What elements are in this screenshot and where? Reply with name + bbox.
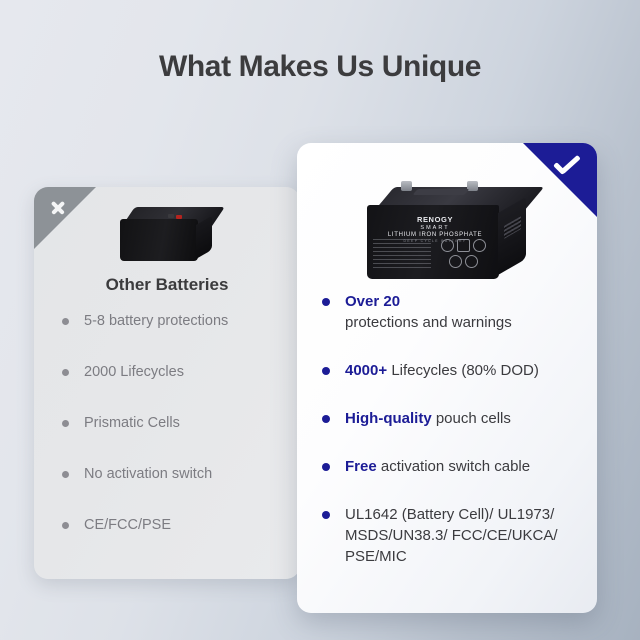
list-item-highlight: Over 20: [345, 293, 400, 310]
cert-icon: [457, 239, 470, 252]
list-item: 2000 Lifecycles: [60, 363, 286, 382]
bullet-icon: [322, 463, 330, 471]
cert-icon: [441, 239, 454, 252]
list-item: 4000+ Lifecycles (80% DOD): [319, 360, 581, 381]
list-item-text: No activation switch: [84, 466, 212, 482]
other-batteries-card: Other Batteries 5-8 battery protections …: [34, 187, 300, 579]
list-item: Free activation switch cable: [319, 456, 581, 477]
list-item-text: protections and warnings: [345, 314, 512, 331]
cert-icon: [473, 239, 486, 252]
other-batteries-title: Other Batteries: [34, 275, 300, 295]
other-batteries-list: 5-8 battery protections 2000 Lifecycles …: [60, 312, 286, 567]
list-item-text: UL1642 (Battery Cell)/ UL1973/ MSDS/UN38…: [345, 506, 558, 565]
bullet-icon: [62, 471, 69, 478]
bullet-icon: [322, 415, 330, 423]
list-item-text: CE/FCC/PSE: [84, 517, 171, 533]
battery-spec-block: [373, 239, 431, 271]
bullet-icon: [322, 298, 330, 306]
battery-smart-text: SMART: [377, 225, 493, 231]
cert-icon: [449, 255, 462, 268]
list-item: No activation switch: [60, 465, 286, 484]
list-item: Prismatic Cells: [60, 414, 286, 433]
bullet-icon: [62, 420, 69, 427]
renogy-feature-list: Over 20 protections and warnings 4000+ L…: [319, 291, 581, 594]
list-item-text: Lifecycles (80% DOD): [391, 362, 539, 379]
page-title: What Makes Us Unique: [0, 50, 640, 84]
list-item: UL1642 (Battery Cell)/ UL1973/ MSDS/UN38…: [319, 504, 581, 567]
list-item-text: activation switch cable: [381, 458, 530, 475]
list-item-highlight: Free: [345, 458, 377, 475]
bullet-icon: [322, 511, 330, 519]
infographic-canvas: What Makes Us Unique Other Batteries 5-8…: [0, 0, 640, 640]
list-item-text: 2000 Lifecycles: [84, 364, 184, 380]
battery-brand-text: RENOGY: [377, 215, 493, 224]
bullet-icon: [322, 367, 330, 375]
battery-chemistry-text: LITHIUM IRON PHOSPHATE: [377, 232, 493, 238]
list-item-text: Prismatic Cells: [84, 415, 180, 431]
bullet-icon: [62, 318, 69, 325]
check-mark-icon: [552, 157, 582, 179]
list-item: High-quality pouch cells: [319, 408, 581, 429]
other-battery-image: [34, 195, 300, 273]
list-item: CE/FCC/PSE: [60, 516, 286, 535]
list-item: 5-8 battery protections: [60, 312, 286, 331]
list-item-highlight: 4000+: [345, 362, 387, 379]
bullet-icon: [62, 522, 69, 529]
renogy-battery-card: RENOGY SMART LITHIUM IRON PHOSPHATE DEEP…: [297, 143, 597, 613]
cert-icon: [465, 255, 478, 268]
bullet-icon: [62, 369, 69, 376]
renogy-battery-image: RENOGY SMART LITHIUM IRON PHOSPHATE DEEP…: [359, 179, 549, 287]
list-item-highlight: High-quality: [345, 410, 432, 427]
list-item-text: 5-8 battery protections: [84, 313, 228, 329]
battery-certification-icons: [441, 239, 493, 269]
list-item-text: pouch cells: [436, 410, 511, 427]
list-item: Over 20 protections and warnings: [319, 291, 581, 333]
